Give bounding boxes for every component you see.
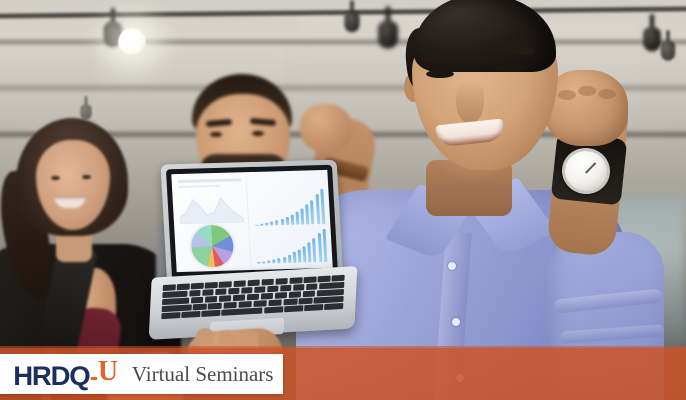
- key[interactable]: [247, 294, 260, 300]
- key[interactable]: [280, 285, 292, 291]
- key[interactable]: [162, 305, 192, 312]
- key[interactable]: [261, 279, 274, 285]
- key[interactable]: [261, 293, 274, 299]
- key[interactable]: [189, 290, 201, 296]
- bar: [322, 229, 327, 262]
- bar: [301, 209, 305, 225]
- key[interactable]: [268, 300, 282, 306]
- key[interactable]: [247, 280, 260, 286]
- key[interactable]: [181, 311, 200, 318]
- bar: [291, 214, 295, 225]
- key[interactable]: [177, 284, 190, 290]
- bar: [273, 259, 276, 263]
- bar: [306, 205, 310, 225]
- raised-fist: [300, 104, 352, 152]
- key[interactable]: [238, 301, 252, 307]
- key[interactable]: [319, 282, 345, 289]
- key[interactable]: [267, 286, 279, 292]
- key[interactable]: [193, 304, 207, 310]
- bar: [288, 254, 291, 263]
- bar: [255, 224, 258, 226]
- nose: [456, 80, 484, 124]
- eye: [426, 70, 454, 78]
- eye: [494, 64, 526, 72]
- key[interactable]: [162, 298, 190, 305]
- key[interactable]: [202, 310, 221, 317]
- orange-banner: HRDQ - U Virtual Seminars: [0, 348, 686, 400]
- key[interactable]: [289, 277, 302, 283]
- key[interactable]: [283, 299, 297, 305]
- bar: [283, 257, 286, 264]
- key[interactable]: [228, 288, 240, 294]
- bar: [265, 223, 268, 226]
- bar: [275, 220, 278, 225]
- key[interactable]: [208, 303, 222, 309]
- bar-chart-top: [252, 188, 326, 226]
- key[interactable]: [253, 300, 267, 306]
- bar: [257, 262, 260, 264]
- person-man-right: [378, 0, 686, 400]
- bar: [298, 249, 302, 262]
- hair: [414, 0, 556, 72]
- spacebar[interactable]: [222, 308, 263, 316]
- bar: [293, 252, 297, 263]
- dashboard-header-line: [178, 185, 220, 188]
- dashboard-header-line: [178, 178, 242, 183]
- bar: [320, 189, 325, 224]
- bar: [260, 224, 263, 226]
- key[interactable]: [241, 287, 253, 293]
- key[interactable]: [284, 306, 303, 313]
- laptop-screen: [171, 170, 332, 272]
- key[interactable]: [275, 292, 288, 298]
- bar: [317, 233, 322, 262]
- dashboard-divider: [245, 176, 251, 266]
- key[interactable]: [233, 280, 246, 286]
- key[interactable]: [293, 284, 305, 290]
- bar: [278, 258, 281, 263]
- eye: [252, 131, 264, 136]
- bar: [303, 246, 307, 262]
- key[interactable]: [254, 286, 266, 292]
- bar: [310, 200, 314, 225]
- lit-bulb: [118, 28, 146, 56]
- hrdq-u-logo: HRDQ - U: [14, 357, 122, 392]
- key[interactable]: [318, 276, 331, 282]
- key[interactable]: [233, 295, 246, 301]
- key[interactable]: [205, 282, 218, 288]
- key[interactable]: [163, 284, 176, 290]
- logo-tagline: Virtual Seminars: [132, 362, 274, 387]
- chin: [430, 144, 518, 180]
- logo-u-mark: U: [98, 357, 122, 385]
- key[interactable]: [264, 307, 283, 314]
- key[interactable]: [215, 289, 227, 295]
- key[interactable]: [219, 295, 232, 301]
- bar: [313, 238, 317, 262]
- laptop: [158, 162, 354, 340]
- pie-chart: [190, 225, 234, 268]
- key[interactable]: [298, 298, 312, 304]
- key[interactable]: [191, 283, 204, 289]
- bar: [267, 260, 270, 263]
- logo-u-text: U: [98, 358, 117, 386]
- bar: [262, 261, 265, 263]
- eye: [82, 175, 91, 179]
- key[interactable]: [304, 304, 323, 311]
- bar: [281, 219, 284, 226]
- knuckle: [578, 86, 596, 96]
- logo-separator: -: [90, 363, 97, 392]
- logo-hrdq-text: HRDQ: [13, 361, 89, 392]
- bar-chart-bottom: [255, 228, 329, 264]
- promo-banner-image: HRDQ - U Virtual Seminars: [0, 0, 686, 400]
- key[interactable]: [202, 289, 214, 295]
- key[interactable]: [289, 291, 302, 297]
- bar: [270, 221, 273, 225]
- knuckle: [598, 89, 616, 99]
- shirt-button: [452, 318, 460, 326]
- logo-box[interactable]: HRDQ - U Virtual Seminars: [0, 354, 283, 394]
- knuckle: [558, 90, 576, 100]
- key[interactable]: [302, 291, 315, 297]
- key[interactable]: [324, 303, 343, 310]
- area-chart: [178, 194, 244, 224]
- key[interactable]: [314, 296, 344, 303]
- key[interactable]: [191, 297, 204, 303]
- key[interactable]: [223, 302, 237, 308]
- bar: [286, 217, 289, 225]
- key[interactable]: [205, 296, 218, 302]
- shirt-button: [448, 262, 456, 270]
- bar: [296, 212, 300, 225]
- analytics-dashboard: [171, 170, 332, 272]
- key[interactable]: [219, 281, 232, 287]
- key[interactable]: [304, 276, 317, 282]
- key[interactable]: [162, 291, 188, 298]
- bar: [315, 195, 320, 225]
- eye: [210, 132, 222, 137]
- key[interactable]: [332, 275, 345, 281]
- key[interactable]: [275, 278, 288, 284]
- key[interactable]: [161, 312, 180, 319]
- key[interactable]: [306, 283, 318, 289]
- eye: [51, 176, 60, 180]
- key[interactable]: [316, 289, 344, 296]
- bar: [308, 242, 312, 262]
